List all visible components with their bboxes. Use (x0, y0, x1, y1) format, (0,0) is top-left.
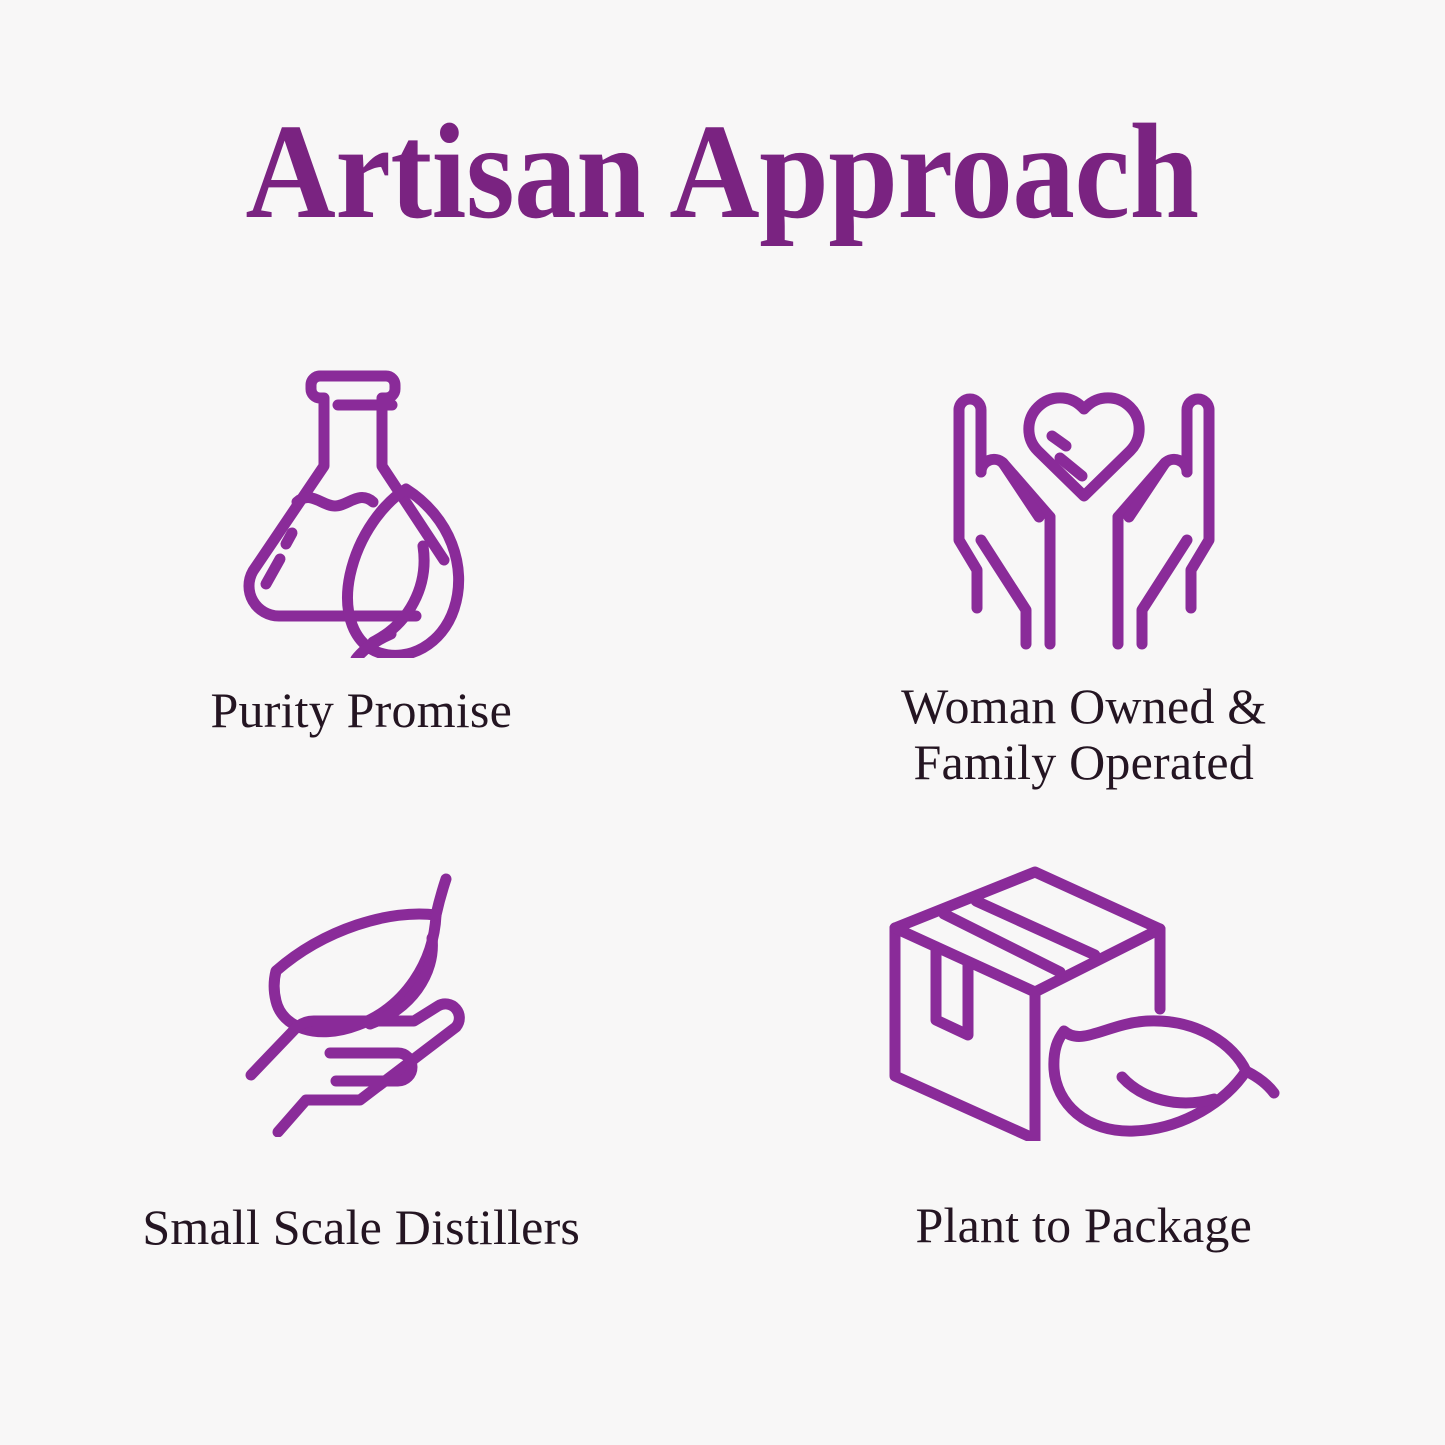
feature-label-plant-to-package: Plant to Package (916, 1197, 1252, 1253)
feature-label-small-scale-distillers: Small Scale Distillers (142, 1199, 580, 1255)
artisan-approach-panel: Artisan Approach (0, 0, 1445, 1445)
flask-with-leaf-icon (230, 358, 492, 658)
feature-plant-to-package: Plant to Package (723, 845, 1445, 1360)
feature-small-scale-distillers: Small Scale Distillers (0, 845, 723, 1360)
feature-woman-owned: Woman Owned & Family Operated (723, 330, 1445, 845)
page-title-container: Artisan Approach (0, 104, 1445, 240)
hands-holding-heart-icon (934, 364, 1234, 654)
feature-label-purity-promise: Purity Promise (211, 682, 512, 738)
hand-holding-leaf-icon (236, 867, 486, 1137)
page-title: Artisan Approach (246, 104, 1199, 240)
feature-grid: Purity Promise (0, 330, 1445, 1360)
box-with-leaf-icon (884, 861, 1284, 1141)
feature-label-woman-owned: Woman Owned & Family Operated (901, 678, 1266, 790)
feature-purity-promise: Purity Promise (0, 330, 723, 845)
